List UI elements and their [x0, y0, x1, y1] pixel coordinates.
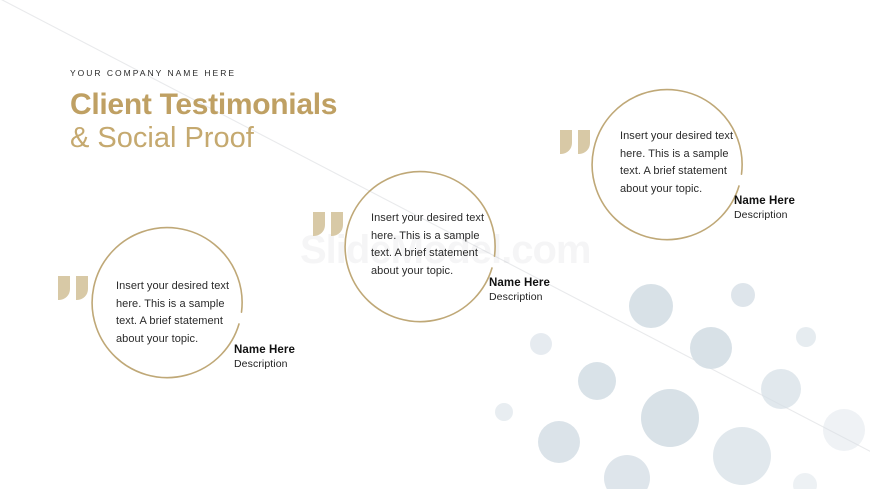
slide-canvas: SlideModel.com YOUR COMPANY NAME HERE Cl…	[0, 0, 870, 489]
testimonial-name-3: Name Here	[734, 194, 795, 208]
page-title-line2: & Social Proof	[70, 121, 337, 156]
decorative-dot	[761, 369, 801, 409]
decorative-dot	[629, 284, 673, 328]
testimonial-quote-1: Insert your desired text here. This is a…	[116, 278, 248, 348]
decorative-dot	[604, 455, 650, 489]
company-name-eyebrow: YOUR COMPANY NAME HERE	[70, 68, 337, 78]
testimonial-attribution-2: Name Here Description	[489, 276, 550, 304]
decorative-dot	[731, 283, 755, 307]
page-title-line1: Client Testimonials	[70, 89, 337, 121]
decorative-dot	[823, 409, 865, 451]
decorative-dot	[793, 473, 817, 489]
testimonial-description-2: Description	[489, 290, 550, 304]
testimonial-card-3[interactable]: Insert your desired text here. This is a…	[578, 70, 838, 268]
decorative-dot	[495, 403, 513, 421]
decorative-dot	[538, 421, 580, 463]
decorative-dot	[578, 362, 616, 400]
slide-header: YOUR COMPANY NAME HERE Client Testimonia…	[70, 68, 337, 157]
testimonial-attribution-1: Name Here Description	[234, 343, 295, 371]
testimonial-attribution-3: Name Here Description	[734, 194, 795, 222]
double-quote-icon	[54, 274, 94, 304]
testimonial-quote-2: Insert your desired text here. This is a…	[371, 210, 503, 280]
testimonial-card-1[interactable]: Insert your desired text here. This is a…	[78, 208, 338, 406]
double-quote-icon	[309, 210, 349, 240]
decorative-dot	[690, 327, 732, 369]
testimonial-name-2: Name Here	[489, 276, 550, 290]
double-quote-icon	[556, 128, 596, 158]
testimonial-description-1: Description	[234, 357, 295, 371]
decorative-dot	[796, 327, 816, 347]
decorative-dot	[641, 389, 699, 447]
testimonial-name-1: Name Here	[234, 343, 295, 357]
testimonial-description-3: Description	[734, 208, 795, 222]
testimonial-quote-3: Insert your desired text here. This is a…	[620, 128, 752, 198]
testimonial-card-2[interactable]: Insert your desired text here. This is a…	[331, 152, 591, 350]
decorative-dot	[713, 427, 771, 485]
